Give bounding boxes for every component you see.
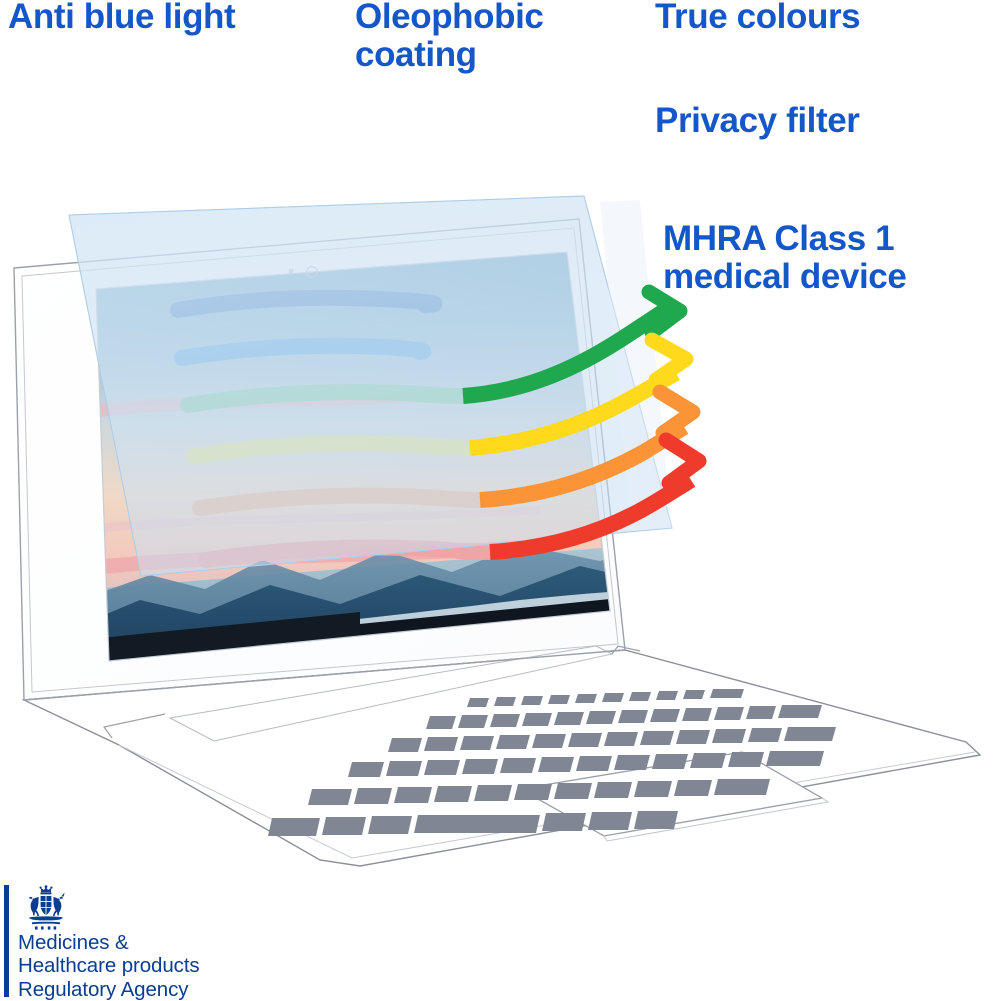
product-graphic-canvas: Anti blue light Oleophobic coating True … — [0, 0, 1000, 1000]
callout-anti-blue-light: Anti blue light — [8, 0, 338, 36]
callout-privacy-filter: Privacy filter — [655, 102, 985, 140]
mhra-logo-text: Medicines & Healthcare products Regulato… — [18, 931, 243, 1001]
callout-true-colours: True colours — [655, 0, 985, 36]
mhra-logo: Medicines & Healthcare products Regulato… — [4, 885, 244, 997]
laptop-illustration — [0, 0, 1000, 1000]
callout-mhra-class-1-medical-device: MHRA Class 1 medical device — [663, 220, 1000, 296]
privacy-filter-sheet — [69, 196, 672, 576]
logo-rule — [4, 885, 9, 997]
callout-oleophobic-coating: Oleophobic coating — [355, 0, 615, 74]
royal-coat-of-arms-crest-icon — [20, 885, 72, 931]
